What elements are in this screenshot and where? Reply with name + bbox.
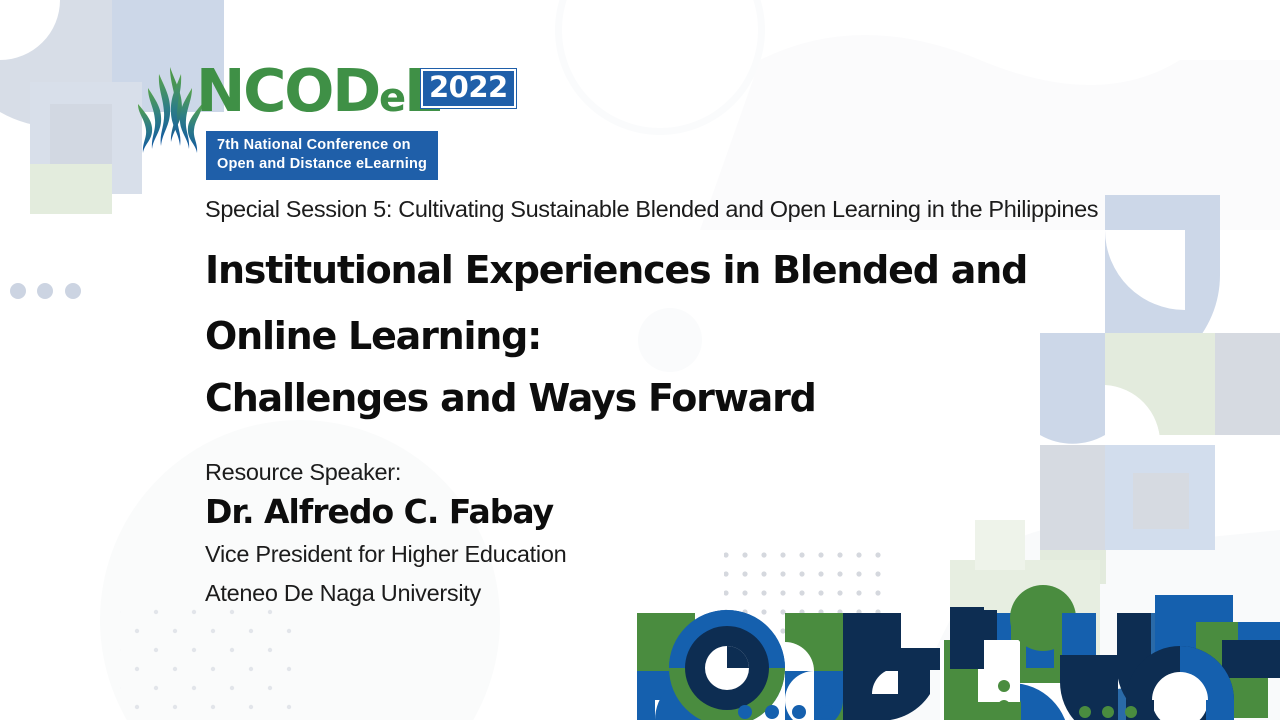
- ncodel-wordmark: NCODeL: [196, 58, 439, 131]
- title-line-1: Institutional Experiences in Blended and: [205, 237, 1105, 303]
- left-dots-row: [10, 283, 81, 299]
- dot-field-bottom-left: [120, 600, 295, 715]
- wordmark-prefix: NCOD: [196, 56, 379, 125]
- slide-canvas: NCODeL 2022 7th National Conference on O…: [0, 0, 1280, 720]
- conference-banner: 7th National Conference on Open and Dist…: [206, 131, 438, 180]
- session-subtitle: Special Session 5: Cultivating Sustainab…: [205, 196, 1105, 223]
- page-title: Institutional Experiences in Blended and…: [205, 237, 1105, 431]
- speaker-block: Resource Speaker: Dr. Alfredo C. Fabay V…: [205, 457, 1105, 613]
- slide-content: Special Session 5: Cultivating Sustainab…: [205, 196, 1105, 613]
- title-line-2: Online Learning:: [205, 303, 1105, 369]
- title-line-3: Challenges and Ways Forward: [205, 365, 1105, 431]
- year-badge: 2022: [421, 69, 516, 108]
- banner-line-2: Open and Distance eLearning: [217, 155, 427, 174]
- ncodel-logo: NCODeL 2022 7th National Conference on O…: [130, 58, 510, 173]
- speaker-name: Dr. Alfredo C. Fabay: [205, 489, 1105, 535]
- wordmark-e: e: [379, 75, 404, 121]
- speaker-organization: Ateneo De Naga University: [205, 574, 1105, 613]
- speaker-label: Resource Speaker:: [205, 457, 1105, 487]
- speaker-role: Vice President for Higher Education: [205, 535, 1105, 574]
- banner-line-1: 7th National Conference on: [217, 136, 427, 155]
